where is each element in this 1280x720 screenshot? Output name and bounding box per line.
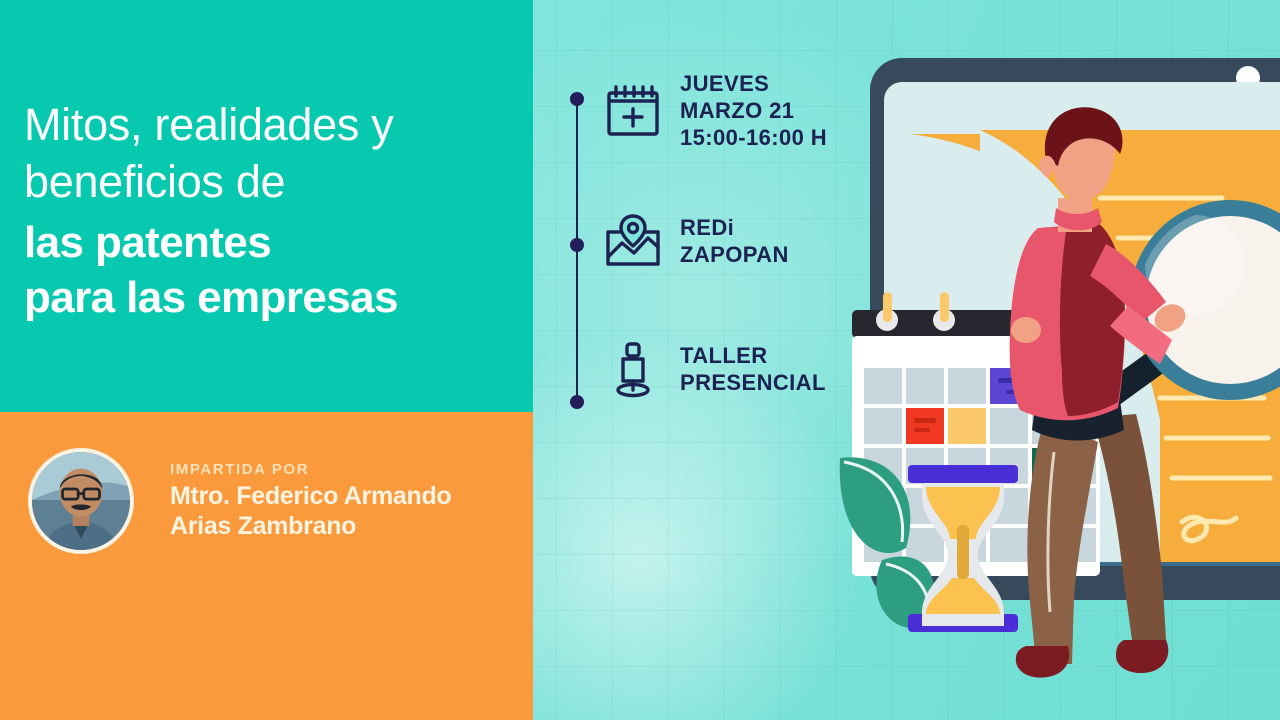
title-line-2: beneficios de: [24, 153, 524, 210]
detail-text-place: REDi ZAPOPAN: [680, 214, 789, 268]
detail-row-date: JUEVES MARZO 21 15:00-16:00 H: [604, 70, 827, 151]
date-day: JUEVES: [680, 70, 827, 97]
map-location-pin-icon: [604, 212, 662, 270]
speaker-name-line-1: Mtro. Federico Armando: [170, 481, 451, 511]
detail-text-type: TALLER PRESENCIAL: [680, 342, 826, 396]
detail-text-date: JUEVES MARZO 21 15:00-16:00 H: [680, 70, 827, 151]
speaker-photo: [32, 452, 130, 550]
detail-row-type: TALLER PRESENCIAL: [604, 340, 826, 398]
type-line-2: PRESENCIAL: [680, 369, 826, 396]
date-month: MARZO 21: [680, 97, 827, 124]
avatar: [28, 448, 134, 554]
timeline-line: [576, 98, 578, 408]
speaker-block: IMPARTIDA POR Mtro. Federico Armando Ari…: [28, 448, 451, 554]
timeline-dot-2: [570, 238, 584, 252]
timeline-dot-3: [570, 395, 584, 409]
timeline-connector: [570, 92, 584, 412]
title-line-4: para las empresas: [24, 271, 524, 324]
date-time: 15:00-16:00 H: [680, 124, 827, 151]
timeline-dot-1: [570, 92, 584, 106]
type-line-1: TALLER: [680, 342, 826, 369]
page-title: Mitos, realidades y beneficios de las pa…: [24, 96, 524, 324]
title-line-1: Mitos, realidades y: [24, 96, 524, 153]
place-city: ZAPOPAN: [680, 241, 789, 268]
illustration-person-with-magnifying-glass: [830, 0, 1280, 720]
calendar-plus-icon: [604, 82, 662, 140]
place-name: REDi: [680, 214, 789, 241]
title-line-3: las patentes: [24, 216, 524, 269]
speaker-name-line-2: Arias Zambrano: [170, 511, 451, 541]
detail-row-place: REDi ZAPOPAN: [604, 212, 789, 270]
person-standing-icon: [604, 340, 662, 398]
imparted-by-label: IMPARTIDA POR: [170, 461, 451, 478]
speaker-text: IMPARTIDA POR Mtro. Federico Armando Ari…: [170, 461, 451, 541]
